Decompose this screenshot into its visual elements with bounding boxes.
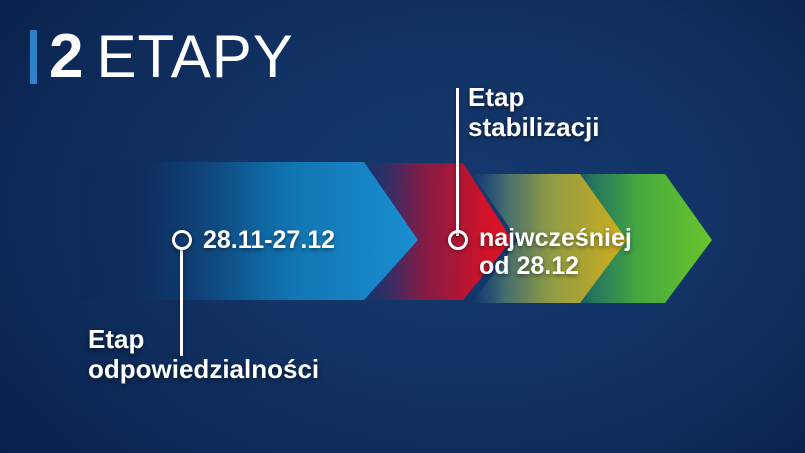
marker-stem-up (456, 88, 459, 236)
stage-1-callout: Etap odpowiedzialności (88, 324, 319, 384)
circle-marker-icon (448, 230, 468, 250)
stage-1-callout-line2: odpowiedzialności (88, 354, 319, 384)
stage-1-date-label: 28.11-27.12 (203, 226, 335, 254)
title-number: 2 (49, 26, 82, 88)
stage-2-date-line1: najwcześniej (479, 224, 632, 252)
stage-2-callout: Etap stabilizacji (468, 82, 600, 142)
infographic-canvas: 2 ETAPY (0, 0, 805, 453)
stage-2-callout-line2: stabilizacji (468, 112, 600, 142)
stage-2-date-label: najwcześniej od 28.12 (479, 224, 632, 280)
stage-2-date-line2: od 28.12 (479, 252, 632, 280)
circle-marker-icon (172, 230, 192, 250)
stage-1-callout-line1: Etap (88, 324, 319, 354)
stage-2-callout-line1: Etap (468, 82, 600, 112)
page-title: 2 ETAPY (30, 24, 294, 90)
title-word: ETAPY (96, 27, 293, 87)
title-accent-bar (30, 30, 37, 84)
